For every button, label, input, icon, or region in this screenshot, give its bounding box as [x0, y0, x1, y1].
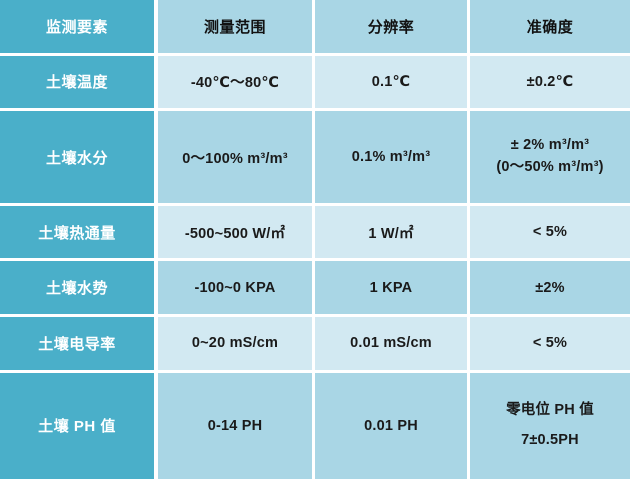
row-label-soil-heat-flux: 土壤热通量 [0, 206, 158, 262]
cell-resolution-soil-water-potential: 1 KPA [315, 261, 470, 317]
cell-range-soil-conductivity: 0~20 mS/cm [158, 317, 315, 373]
cell-resolution-soil-moisture: 0.1% m³/m³ [315, 111, 470, 206]
table-row: 土壤水分 0～100% m³/m³ 0.1% m³/m³ ± 2% m³/m³ … [0, 111, 630, 206]
cell-accuracy-soil-heat-flux: < 5% [470, 206, 630, 262]
accuracy-line-1: 零电位 PH 值 [506, 403, 594, 419]
row-label-soil-water-potential: 土壤水势 [0, 261, 158, 317]
header-cell-element: 监测要素 [0, 0, 158, 56]
cell-accuracy-soil-water-potential: ±2% [470, 261, 630, 317]
accuracy-line-1: ± 2% m³/m³ [511, 138, 589, 154]
table-row: 土壤 PH 值 0-14 PH 0.01 PH 零电位 PH 值 7±0.5PH [0, 373, 630, 479]
table-row: 土壤水势 -100~0 KPA 1 KPA ±2% [0, 261, 630, 317]
cell-accuracy-soil-temperature: ±0.2℃ [470, 56, 630, 112]
cell-range-soil-moisture: 0～100% m³/m³ [158, 111, 315, 206]
cell-accuracy-soil-moisture: ± 2% m³/m³ (0～50% m³/m³) [470, 111, 630, 206]
header-cell-resolution: 分辨率 [315, 0, 470, 56]
cell-resolution-soil-conductivity: 0.01 mS/cm [315, 317, 470, 373]
cell-accuracy-soil-conductivity: < 5% [470, 317, 630, 373]
header-cell-accuracy: 准确度 [470, 0, 630, 56]
cell-resolution-soil-heat-flux: 1 W/㎡ [315, 206, 470, 262]
accuracy-line-2: (0～50% m³/m³) [496, 160, 603, 176]
cell-range-soil-temperature: -40℃～80℃ [158, 56, 315, 112]
row-label-soil-moisture: 土壤水分 [0, 111, 158, 206]
row-label-soil-temperature: 土壤温度 [0, 56, 158, 112]
row-label-soil-ph: 土壤 PH 值 [0, 373, 158, 479]
table-header-row: 监测要素 测量范围 分辨率 准确度 [0, 0, 630, 56]
table-row: 土壤电导率 0~20 mS/cm 0.01 mS/cm < 5% [0, 317, 630, 373]
cell-range-soil-ph: 0-14 PH [158, 373, 315, 479]
table-row: 土壤热通量 -500~500 W/㎡ 1 W/㎡ < 5% [0, 206, 630, 262]
soil-sensor-spec-table: 监测要素 测量范围 分辨率 准确度 土壤温度 -40℃～80℃ 0.1℃ ±0.… [0, 0, 630, 479]
header-cell-range: 测量范围 [158, 0, 315, 56]
table-row: 土壤温度 -40℃～80℃ 0.1℃ ±0.2℃ [0, 56, 630, 112]
cell-range-soil-water-potential: -100~0 KPA [158, 261, 315, 317]
cell-accuracy-soil-ph: 零电位 PH 值 7±0.5PH [470, 373, 630, 479]
cell-resolution-soil-temperature: 0.1℃ [315, 56, 470, 112]
cell-range-soil-heat-flux: -500~500 W/㎡ [158, 206, 315, 262]
row-label-soil-conductivity: 土壤电导率 [0, 317, 158, 373]
cell-resolution-soil-ph: 0.01 PH [315, 373, 470, 479]
accuracy-line-2: 7±0.5PH [521, 433, 579, 449]
